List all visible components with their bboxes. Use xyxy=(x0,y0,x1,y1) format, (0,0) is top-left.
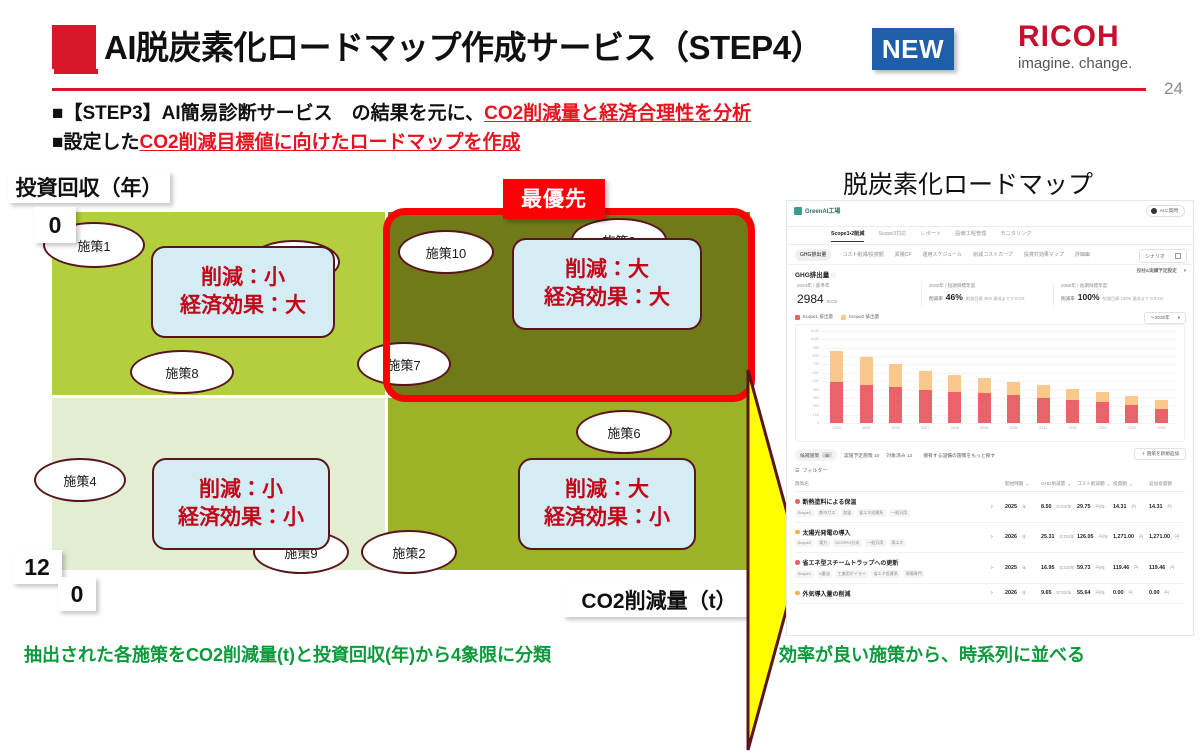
chevron-down-icon: ▾ xyxy=(1184,268,1186,274)
kpi-baseline: 2024年 / 基準年 2984 tCO2 xyxy=(795,283,921,306)
row-expand-chevron-icon[interactable]: › xyxy=(991,565,1005,571)
app-secondary-tabs: GHG排出量 コスト削減/投資額 累積CF 運用スケジュール 削減コストカーブ … xyxy=(787,245,1193,265)
chart-y-tick: 400 xyxy=(813,388,819,392)
table-row[interactable]: 外気導入量の削減›2026年9.65tCO2/年55.64円/年0.00円0.0… xyxy=(795,584,1185,604)
column-label: GHG削減量 xyxy=(1041,481,1065,487)
cell-value: 119.46 xyxy=(1113,565,1129,571)
cell-value: 59.73 xyxy=(1077,565,1091,571)
chart-x-tick: 2034 xyxy=(1128,426,1136,430)
app-logo-icon xyxy=(794,207,802,215)
cell-unit: 年 xyxy=(1022,590,1026,596)
chip-label: 候補施策 xyxy=(800,452,819,459)
priority-badge: 最優先 xyxy=(503,179,605,219)
caption-left: 抽出された各施策をCO2削減量(t)と投資回収(年)から4象限に分類 xyxy=(24,641,551,667)
measure-title: 断熱塗料による保温 xyxy=(795,497,991,506)
cell-unit: 円 xyxy=(1168,504,1172,510)
measure-tag: 電力 xyxy=(817,539,830,547)
measure-title-text: 外気導入量の削減 xyxy=(803,589,851,598)
measure-tag: 省エネ投資系 xyxy=(871,570,900,578)
chip-planned-measures[interactable]: 実施予定施策 10 xyxy=(844,452,879,459)
measures-table: 施策名 開始時期▾ GHG削減量▾ コスト削減額▾ 投資額▾ 追加投資額 断熱塗… xyxy=(795,478,1185,604)
range-selector-label: 〜2035年 xyxy=(1150,315,1169,321)
ai-ask-button[interactable]: AIに質問 xyxy=(1146,205,1185,217)
cell-value: 16.95 xyxy=(1041,565,1055,571)
callout-line-1: 削減：大 xyxy=(565,476,649,504)
cost-cell: 59.73円/年 xyxy=(1077,565,1113,571)
measure-tags: Scope2電力SCOPE2分米一般汎用再エネ xyxy=(795,539,991,547)
table-row[interactable]: 省エネ型スチームトラップへの更新Scope1A重油工業用ボイラー省エネ投資系現場… xyxy=(795,553,1185,584)
legend-item-scope2[interactable]: Scope2 排出量 xyxy=(841,314,879,320)
chart-bar-segment-scope2 xyxy=(1125,396,1138,405)
measure-title-text: 省エネ型スチームトラップへの更新 xyxy=(803,558,899,567)
cell-value: 8.50 xyxy=(1041,504,1052,510)
kpi-sub: 削減目標 46% 達成まで 0 tCO2 xyxy=(966,296,1025,302)
chart-x-tick: 2025 xyxy=(862,426,870,430)
slide-header: AI脱炭素化ロードマップ作成サービス（STEP4） NEW RICOH imag… xyxy=(0,0,1200,160)
ai-icon xyxy=(1151,208,1157,214)
filter-label: フィルター xyxy=(802,467,827,474)
page-number: 24 xyxy=(1164,79,1183,99)
chip-count: 10 xyxy=(874,454,879,459)
measure-name-cell: 太陽光発電の導入Scope2電力SCOPE2分米一般汎用再エネ xyxy=(795,528,991,548)
chart-bar[interactable]: 2035 xyxy=(1155,331,1168,423)
kpi-value: 2984 xyxy=(797,292,824,306)
chart-y-tick: 200 xyxy=(813,404,819,408)
chart-bar-segment-scope1 xyxy=(860,385,873,423)
page-title: AI脱炭素化ロードマップ作成サービス（STEP4） xyxy=(104,21,823,69)
callout-line-2: 経済効果：大 xyxy=(180,292,306,320)
measure-label: 施策4 xyxy=(63,471,96,490)
measure-bubble[interactable]: 施策4 xyxy=(34,458,126,502)
quadrant-matrix: 施策1 施策5 施策8 施策10 施策3 施策7 施策4 施策9 施策6 施策2… xyxy=(0,160,790,630)
measure-label: 施策7 xyxy=(387,355,420,374)
legend-item-scope1[interactable]: Scope1 排出量 xyxy=(795,314,833,320)
measure-bubble[interactable]: 施策7 xyxy=(357,342,451,386)
chart-bar-segment-scope2 xyxy=(1007,382,1020,396)
cell-value: 2026 xyxy=(1005,534,1017,540)
kpi-value: 100% xyxy=(1078,292,1100,302)
chart-bar-segment-scope1 xyxy=(1125,405,1138,423)
chart-y-tick: 900 xyxy=(813,346,819,350)
red-accent-square xyxy=(52,25,96,69)
chart-bar-segment-scope1 xyxy=(978,393,991,423)
chart-legend: Scope1 排出量 Scope2 排出量 〜2035年 ▾ xyxy=(787,312,1193,322)
cell-unit: tCO2/年 xyxy=(1060,534,1075,540)
subtab-investment-map[interactable]: 投資対効果マップ xyxy=(1024,251,1064,258)
chart-x-tick: 2035 xyxy=(1157,426,1165,430)
chart-bar[interactable]: 2029 xyxy=(978,331,991,423)
tab-report[interactable]: レポート xyxy=(920,230,941,241)
investment-cell: 14.31円 xyxy=(1113,504,1149,510)
subtab-cost-curve[interactable]: 削減コストカーブ xyxy=(973,251,1013,258)
chart-y-tick: 300 xyxy=(813,396,819,400)
ricoh-wordmark: RICOH xyxy=(1018,22,1132,52)
cost-cell: 55.64円/年 xyxy=(1077,590,1113,596)
chart-bar-segment-scope1 xyxy=(1007,395,1020,423)
measure-title: 省エネ型スチームトラップへの更新 xyxy=(795,558,991,567)
chart-bar[interactable]: 2033 xyxy=(1096,331,1109,423)
caption-right: 効率が良い施策から、時系列に並べる xyxy=(779,641,1085,667)
measure-tag: 一般汎用 xyxy=(889,509,910,517)
filter-control[interactable]: ☰ フィルター xyxy=(787,464,1193,478)
chart-bar-segment-scope1 xyxy=(889,387,902,423)
measure-tag: Scope1 xyxy=(795,509,814,517)
chart-bar-segment-scope2 xyxy=(978,378,991,393)
measure-title: 太陽光発電の導入 xyxy=(795,528,991,537)
range-selector[interactable]: 〜2035年 ▾ xyxy=(1144,312,1186,324)
chart-bar[interactable]: 2027 xyxy=(919,331,932,423)
cell-value: 14.31 xyxy=(1113,504,1127,510)
cell-unit: 円/年 xyxy=(1096,565,1106,571)
chart-bar-segment-scope2 xyxy=(919,371,932,390)
filter-icon: ☰ xyxy=(795,468,799,474)
column-label: コスト削減額 xyxy=(1077,481,1105,487)
scenario-label: シナリオ xyxy=(1145,253,1165,260)
bullet-line-1: ■【STEP3】AI簡易診断サービス の結果を元に、CO2削減量と経済合理性を分… xyxy=(52,98,751,125)
chart-y-tick: 500 xyxy=(813,379,819,383)
investment-cell: 1,271.00円 xyxy=(1113,534,1149,540)
measure-bubble[interactable]: 施策10 xyxy=(398,230,494,274)
cell-value: 126.05 xyxy=(1077,534,1094,540)
cell-unit: 円 xyxy=(1139,534,1143,540)
y-axis-top-value: 0 xyxy=(34,207,76,243)
status-dot-icon xyxy=(795,591,800,596)
cell-value: 2026 xyxy=(1005,590,1017,596)
ghg-emissions-chart: 1100100090080070060050040030020010002024… xyxy=(795,324,1185,442)
extra-investment-cell: 119.46円 xyxy=(1149,565,1185,571)
measure-tag: 現場専門 xyxy=(903,570,924,578)
column-header-name: 施策名 xyxy=(795,481,991,487)
app-brand-label: GreenAI工場 xyxy=(805,206,840,215)
ai-ask-label: AIに質問 xyxy=(1160,208,1178,214)
cell-value: 29.75 xyxy=(1077,504,1091,510)
measure-name-cell: 断熱塗料による保温Scope1都市ガス加温省エネ投資系一般汎用 xyxy=(795,497,991,517)
chart-bar[interactable]: 2026 xyxy=(889,331,902,423)
tab-scope1-2[interactable]: Scope1・2削減 xyxy=(831,230,864,242)
x-axis-title: CO2削減量（t） xyxy=(563,582,755,617)
chip-count: 45 xyxy=(822,452,832,458)
chart-y-tick: 0 xyxy=(817,421,819,425)
kpi-2030-target: 2030年 / 短期目標年度 削減率 46% 削減目標 46% 達成まで 0 t… xyxy=(921,283,1053,306)
measure-filter-row: 候補施策 45 実施予定施策 10 対象済み 12 保有する設備の施策をもっと探… xyxy=(787,442,1193,464)
measure-name-cell: 外気導入量の削減 xyxy=(795,589,991,598)
app-primary-tabs: Scope1・2削減 Scope3対応 レポート 設備工程管理 モニタリング xyxy=(787,227,1193,245)
extra-investment-cell: 0.00円 xyxy=(1149,590,1185,596)
column-label: 追加投資額 xyxy=(1149,481,1172,487)
chart-x-tick: 2031 xyxy=(1039,426,1047,430)
quadrant-callout-top-left: 削減：小 経済効果：大 xyxy=(151,246,335,338)
measure-title-text: 太陽光発電の導入 xyxy=(803,528,851,537)
chart-bar-segment-scope2 xyxy=(1066,389,1079,400)
cell-value: 0.00 xyxy=(1113,590,1124,596)
cell-value: 2025 xyxy=(1005,565,1017,571)
callout-line-1: 削減：小 xyxy=(201,264,285,292)
row-expand-chevron-icon[interactable]: › xyxy=(991,504,1005,510)
ghg-section-header: GHG排出量 ⓘ 投柱&実績予定設定 ▾ xyxy=(787,265,1193,280)
chart-bar[interactable]: 2024 xyxy=(830,331,843,423)
column-header-extra-investment[interactable]: 追加投資額 xyxy=(1149,481,1185,487)
add-measure-button[interactable]: ＋ 施策を新規追加 xyxy=(1134,448,1186,460)
chart-bar-segment-scope1 xyxy=(830,382,843,423)
quadrant-callout-bottom-right: 削減：大 経済効果：小 xyxy=(518,458,696,550)
table-header-row: 施策名 開始時期▾ GHG削減量▾ コスト削減額▾ 投資額▾ 追加投資額 xyxy=(795,478,1185,492)
sort-caret-icon: ▾ xyxy=(1068,482,1070,487)
kpi-prefix: 削減率 xyxy=(1061,296,1075,302)
chart-bar-segment-scope2 xyxy=(1155,400,1168,409)
measure-tags: Scope1A重油工業用ボイラー省エネ投資系現場専門 xyxy=(795,570,991,578)
chart-y-tick: 1000 xyxy=(811,337,819,341)
cell-value: 1,271.00 xyxy=(1113,534,1134,540)
chart-bar-segment-scope1 xyxy=(1155,409,1168,423)
chart-bar[interactable]: 2034 xyxy=(1125,331,1138,423)
chart-plot-area: 1100100090080070060050040030020010002024… xyxy=(822,331,1176,423)
callout-line-2: 経済効果：小 xyxy=(178,504,304,532)
measure-name-cell: 省エネ型スチームトラップへの更新Scope1A重油工業用ボイラー省エネ投資系現場… xyxy=(795,558,991,578)
header-divider xyxy=(52,88,1146,91)
chart-x-tick: 2027 xyxy=(921,426,929,430)
y-axis-title: 投資回収（年） xyxy=(8,171,170,203)
measure-tag: Scope2 xyxy=(795,539,814,547)
cost-cell: 126.05円/年 xyxy=(1077,534,1113,540)
cell-value: 2025 xyxy=(1005,504,1017,510)
measure-label: 施策8 xyxy=(165,363,198,382)
chart-bar[interactable]: 2028 xyxy=(948,331,961,423)
cost-cell: 29.75円/年 xyxy=(1077,504,1113,510)
cell-unit: 円 xyxy=(1175,534,1179,540)
kpi-unit: tCO2 xyxy=(827,299,838,304)
chart-bar[interactable]: 2025 xyxy=(860,331,873,423)
cell-unit: 円 xyxy=(1129,590,1133,596)
status-dot-icon xyxy=(795,560,800,565)
roadmap-section-title: 脱炭素化ロードマップ xyxy=(843,165,1093,201)
chart-x-tick: 2033 xyxy=(1098,426,1106,430)
extra-investment-cell: 1,271.00円 xyxy=(1149,534,1185,540)
y-axis-bottom-value: 12 xyxy=(12,550,62,584)
column-header-cost[interactable]: コスト削減額▾ xyxy=(1077,481,1113,487)
kpi-sub: 削減目標 100% 達成まで 0 tCO2 xyxy=(1103,296,1164,302)
measure-bubble[interactable]: 施策2 xyxy=(361,530,457,574)
legend-label: Scope1 排出量 xyxy=(803,314,834,320)
measure-tag: A重油 xyxy=(817,570,833,578)
chart-bar[interactable]: 2031 xyxy=(1037,331,1050,423)
bullet-1-highlight: CO2削減量と経済合理性を分析 xyxy=(484,103,751,124)
cell-value: 14.31 xyxy=(1149,504,1163,510)
status-dot-icon xyxy=(795,499,800,504)
chart-bar-segment-scope1 xyxy=(1096,402,1109,423)
chart-bar-segment-scope2 xyxy=(830,351,843,382)
cell-unit: 円 xyxy=(1134,565,1138,571)
column-header-start[interactable]: 開始時期▾ xyxy=(1005,481,1041,487)
sort-caret-icon: ▾ xyxy=(1026,482,1028,487)
measure-tag: 一般汎用 xyxy=(865,539,886,547)
column-header-investment[interactable]: 投資額▾ xyxy=(1113,481,1149,487)
subtab-cumulative-cf[interactable]: 累積CF xyxy=(895,251,912,258)
chart-bar[interactable]: 2032 xyxy=(1066,331,1079,423)
table-row[interactable]: 太陽光発電の導入Scope2電力SCOPE2分米一般汎用再エネ›2026年25.… xyxy=(795,523,1185,554)
cell-unit: 年 xyxy=(1022,565,1026,571)
cell-value: 9.65 xyxy=(1041,590,1052,596)
period-selector-label: 投柱&実績予定設定 xyxy=(1137,268,1177,274)
tab-scope3[interactable]: Scope3対応 xyxy=(878,230,906,241)
search-more-hint[interactable]: 保有する設備の施策をもっと探す xyxy=(923,452,995,459)
start-cell: 2025年 xyxy=(1005,565,1041,571)
bullet-1-prefix: ■【STEP3】AI簡易診断サービス の結果を元に、 xyxy=(52,103,484,124)
ricoh-tagline: imagine. change. xyxy=(1018,56,1132,71)
chart-bar[interactable]: 2030 xyxy=(1007,331,1020,423)
subtab-schedule[interactable]: 運用スケジュール xyxy=(922,251,962,258)
chart-bar-segment-scope2 xyxy=(860,357,873,385)
kpi-row: 2024年 / 基準年 2984 tCO2 2030年 / 短期目標年度 削減率… xyxy=(787,280,1193,312)
table-row[interactable]: 断熱塗料による保温Scope1都市ガス加温省エネ投資系一般汎用›2025年8.5… xyxy=(795,492,1185,523)
legend-color-chip xyxy=(841,315,846,320)
chart-bar-segment-scope1 xyxy=(948,392,961,423)
measure-tag: 都市ガス xyxy=(817,509,838,517)
investment-cell: 119.46円 xyxy=(1113,565,1149,571)
app-topbar: GreenAI工場 AIに質問 xyxy=(787,201,1193,227)
table-body: 断熱塗料による保温Scope1都市ガス加温省エネ投資系一般汎用›2025年8.5… xyxy=(795,492,1185,604)
sort-caret-icon: ▾ xyxy=(1130,482,1132,487)
investment-cell: 0.00円 xyxy=(1113,590,1149,596)
kpi-label: 2050年 / 長期目標年度 xyxy=(1061,283,1185,289)
chart-bar-segment-scope1 xyxy=(1066,400,1079,423)
cell-unit: 円/年 xyxy=(1099,534,1109,540)
info-icon[interactable]: ⓘ xyxy=(831,273,836,279)
measure-label: 施策1 xyxy=(77,236,110,255)
chart-x-tick: 2026 xyxy=(892,426,900,430)
app-brand: GreenAI工場 xyxy=(794,206,840,215)
cell-unit: 円 xyxy=(1170,565,1174,571)
chart-x-tick: 2030 xyxy=(1010,426,1018,430)
kpi-label: 2030年 / 短期目標年度 xyxy=(929,283,1053,289)
subtab-cost-investment[interactable]: コスト削減/投資額 xyxy=(842,251,883,258)
start-cell: 2026年 xyxy=(1005,590,1041,596)
measure-bubble[interactable]: 施策8 xyxy=(130,350,234,394)
measure-tag: SCOPE2分米 xyxy=(833,539,862,547)
kpi-prefix: 削減率 xyxy=(929,296,943,302)
chart-y-tick: 100 xyxy=(813,413,819,417)
roadmap-app-screenshot: GreenAI工場 AIに質問 Scope1・2削減 Scope3対応 レポート… xyxy=(786,200,1194,636)
measure-label: 施策6 xyxy=(607,423,640,442)
cell-value: 0.00 xyxy=(1149,590,1160,596)
callout-line-1: 削減：大 xyxy=(565,256,649,284)
cell-unit: tCO2/年 xyxy=(1060,565,1075,571)
x-axis-origin-value: 0 xyxy=(58,577,96,611)
kpi-value: 46% xyxy=(946,292,963,302)
scenario-selector[interactable]: シナリオ xyxy=(1139,249,1187,263)
cell-unit: tCO2/年 xyxy=(1057,590,1072,596)
cell-value: 119.46 xyxy=(1149,565,1165,571)
status-dot-icon xyxy=(795,530,800,535)
row-expand-chevron-icon[interactable]: › xyxy=(991,590,1005,596)
cell-value: 1,271.00 xyxy=(1149,534,1170,540)
extra-investment-cell: 14.31円 xyxy=(1149,504,1185,510)
measure-label: 施策2 xyxy=(392,543,425,562)
quadrant-callout-top-right: 削減：大 経済効果：大 xyxy=(512,238,702,330)
chip-label: 実施予定施策 xyxy=(844,454,873,459)
chart-x-tick: 2024 xyxy=(833,426,841,430)
cell-unit: 年 xyxy=(1022,534,1026,540)
bullet-2-prefix: ■設定した xyxy=(52,132,139,153)
tab-monitoring[interactable]: モニタリング xyxy=(1000,230,1031,241)
ghg-cell: 8.50tCO2/年 xyxy=(1041,504,1077,510)
chart-bars: 2024202520262027202820292030203120322033… xyxy=(822,331,1176,423)
ricoh-logo: RICOH imagine. change. xyxy=(1018,22,1132,71)
cell-unit: 円/年 xyxy=(1096,590,1106,596)
chart-bar-segment-scope2 xyxy=(889,364,902,387)
chart-bar-segment-scope2 xyxy=(1096,392,1109,402)
cell-unit: 円 xyxy=(1132,504,1136,510)
row-expand-chevron-icon[interactable]: › xyxy=(991,534,1005,540)
column-header-ghg[interactable]: GHG削減量▾ xyxy=(1041,481,1077,487)
chart-y-tick: 600 xyxy=(813,371,819,375)
measure-bubble[interactable]: 施策6 xyxy=(576,410,672,454)
start-cell: 2026年 xyxy=(1005,534,1041,540)
tab-equipment-process[interactable]: 設備工程管理 xyxy=(955,230,986,241)
measure-title-text: 断熱塗料による保温 xyxy=(803,497,857,506)
subtab-ghg-emissions[interactable]: GHG排出量 xyxy=(795,249,831,261)
chart-x-tick: 2032 xyxy=(1069,426,1077,430)
measure-tag: Scope1 xyxy=(795,570,814,578)
chart-bar-segment-scope1 xyxy=(1037,398,1050,424)
legend-color-chip xyxy=(795,315,800,320)
measure-title: 外気導入量の削減 xyxy=(795,589,991,598)
chart-y-tick: 1100 xyxy=(811,329,819,333)
chart-y-tick: 800 xyxy=(813,354,819,358)
new-badge: NEW xyxy=(872,28,954,70)
bullet-line-2: ■設定したCO2削減目標値に向けたロードマップを作成 xyxy=(52,127,521,154)
chip-excluded-measures[interactable]: 対象済み 12 xyxy=(886,452,912,459)
cell-unit: 円 xyxy=(1165,590,1169,596)
chart-bar-segment-scope1 xyxy=(919,390,932,423)
start-cell: 2025年 xyxy=(1005,504,1041,510)
period-selector[interactable]: 投柱&実績予定設定 ▾ xyxy=(1137,268,1186,274)
subtab-details[interactable]: 詳細画 xyxy=(1075,251,1090,258)
chip-label: 対象済み xyxy=(886,454,905,459)
callout-line-1: 削減：小 xyxy=(199,476,283,504)
cell-value: 25.31 xyxy=(1041,534,1055,540)
ghg-cell: 16.95tCO2/年 xyxy=(1041,565,1077,571)
chart-bar-segment-scope2 xyxy=(1037,385,1050,397)
column-label: 投資額 xyxy=(1113,481,1127,487)
chart-bar-segment-scope2 xyxy=(948,375,961,392)
cell-unit: tCO2/年 xyxy=(1057,504,1072,510)
chip-candidate-measures[interactable]: 候補施策 45 xyxy=(795,449,837,461)
sort-caret-icon: ▾ xyxy=(1108,482,1110,487)
column-label: 開始時期 xyxy=(1005,481,1023,487)
kpi-2050-target: 2050年 / 長期目標年度 削減率 100% 削減目標 100% 達成まで 0… xyxy=(1053,283,1185,306)
cell-unit: 年 xyxy=(1022,504,1026,510)
cell-unit: 円/年 xyxy=(1096,504,1106,510)
cell-value: 55.64 xyxy=(1077,590,1091,596)
chart-x-tick: 2028 xyxy=(951,426,959,430)
measure-tag: 省エネ投資系 xyxy=(857,509,886,517)
measure-tag: 工業用ボイラー xyxy=(835,570,868,578)
callout-line-2: 経済効果：大 xyxy=(544,284,670,312)
callout-line-2: 経済効果：小 xyxy=(544,504,670,532)
chart-gridline: 0 xyxy=(822,423,1176,424)
bullet-2-highlight: CO2削減目標値に向けたロードマップを作成 xyxy=(139,132,520,153)
ghg-cell: 9.65tCO2/年 xyxy=(1041,590,1077,596)
ghg-cell: 25.31tCO2/年 xyxy=(1041,534,1077,540)
measure-label: 施策10 xyxy=(426,243,466,262)
kpi-label: 2024年 / 基準年 xyxy=(797,283,921,289)
chip-count: 12 xyxy=(907,454,912,459)
measure-tag: 加温 xyxy=(841,509,854,517)
chevron-down-icon: ▾ xyxy=(1178,315,1180,321)
scenario-checkbox-icon[interactable] xyxy=(1175,253,1181,259)
chart-y-tick: 700 xyxy=(813,362,819,366)
measure-tags: Scope1都市ガス加温省エネ投資系一般汎用 xyxy=(795,509,991,517)
